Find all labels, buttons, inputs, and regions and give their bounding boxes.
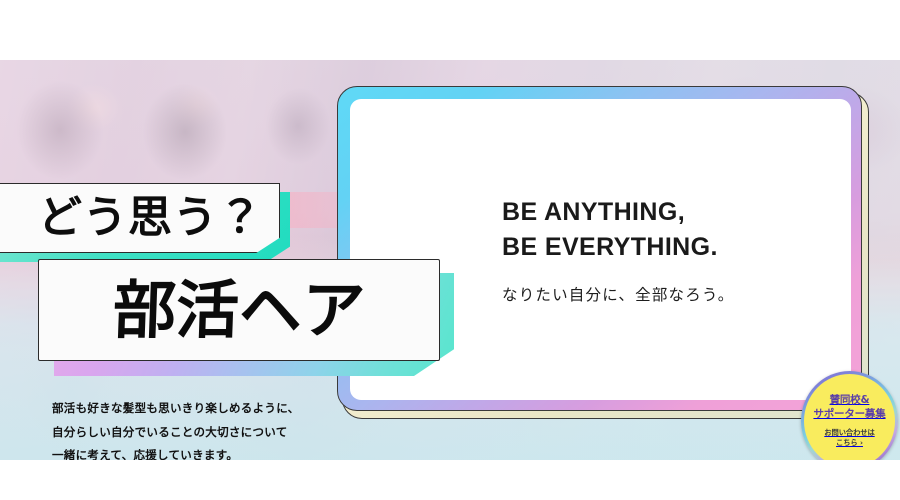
badge-cta: お問い合わせは こちら › xyxy=(824,428,874,449)
description-line-2: 自分らしい自分でいることの大切さについて xyxy=(52,421,342,445)
tag-question: どう思う？ xyxy=(0,183,280,255)
tag-topic-face: 部活ヘア xyxy=(38,259,440,361)
tag-question-face: どう思う？ xyxy=(0,183,280,253)
tag-topic: 部活ヘア xyxy=(38,259,438,364)
tag-topic-label: 部活ヘア xyxy=(112,279,366,342)
description-line-1: 部活も好きな髪型も思いきり楽しめるように、 xyxy=(52,397,342,421)
badge-title: 賛同校& サポーター募集 xyxy=(813,394,885,422)
page-title: BE ANYTHING, BE EVERYTHING. xyxy=(502,195,851,265)
supporter-recruitment-badge[interactable]: 賛同校& サポーター募集 お問い合わせは こちら › xyxy=(801,371,898,460)
campaign-description: 部活も好きな髪型も思いきり楽しめるように、 自分らしい自分でいることの大切さにつ… xyxy=(52,397,342,460)
card-subline: なりたい自分に、全部なろう。 xyxy=(502,283,851,305)
badge-cta-line-2: こちら › xyxy=(824,438,874,448)
badge-face: 賛同校& サポーター募集 お問い合わせは こちら › xyxy=(804,374,895,460)
badge-cta-line-1: お問い合わせは xyxy=(824,428,874,438)
headline-line-2: BE EVERYTHING. xyxy=(502,230,851,265)
description-line-3: 一緒に考えて、応援していきます。 xyxy=(52,444,342,460)
campaign-banner: asics KOBE KORYO BE ANYTHING, BE EVERYTH… xyxy=(0,60,900,460)
badge-title-line-1: 賛同校& xyxy=(813,394,885,408)
tag-question-label: どう思う？ xyxy=(38,196,263,240)
headline-line-1: BE ANYTHING, xyxy=(502,195,851,230)
badge-title-line-2: サポーター募集 xyxy=(813,408,885,422)
